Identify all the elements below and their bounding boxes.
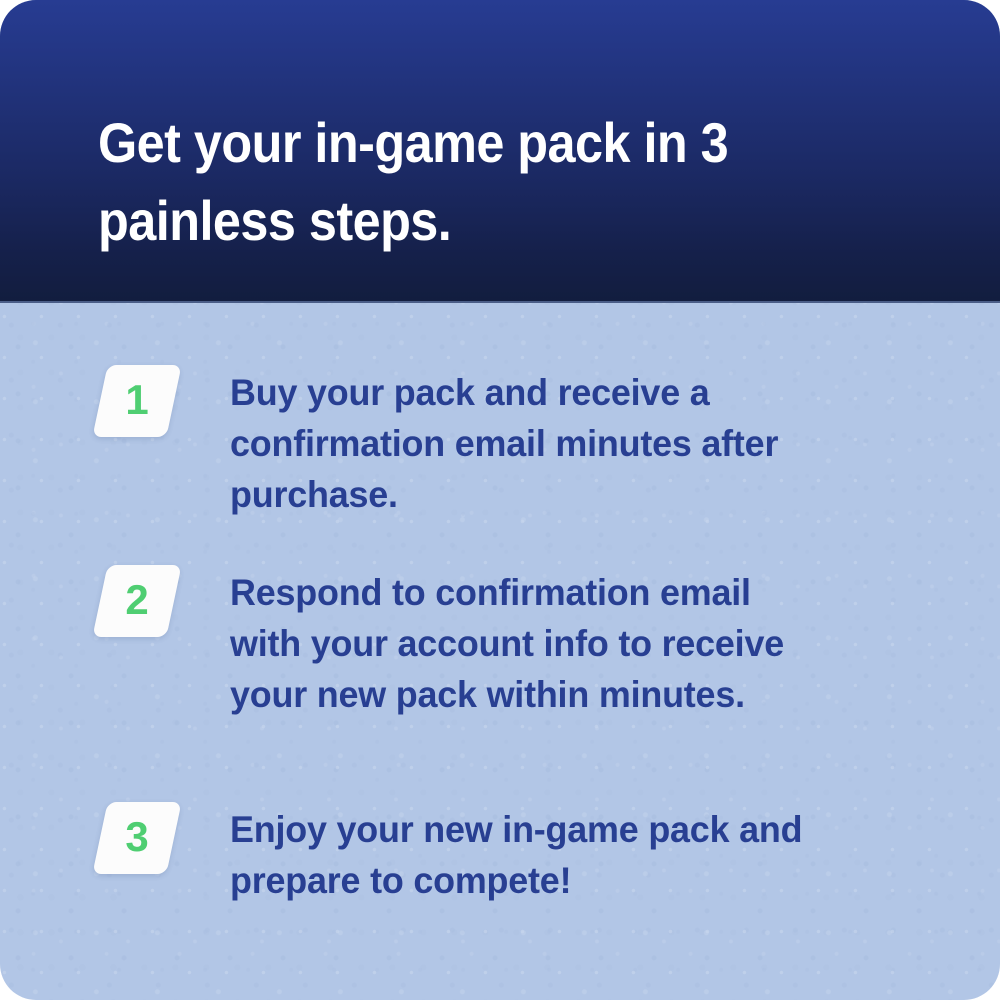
step-item-2: 2 Respond to confirmation email with you… — [0, 565, 1000, 720]
step-number-badge-2: 2 — [92, 565, 181, 637]
step-item-3: 3 Enjoy your new in-game pack and prepar… — [0, 802, 1000, 906]
step-description-1: Buy your pack and receive a confirmation… — [230, 365, 893, 520]
step-number-3: 3 — [100, 802, 174, 874]
step-description-3: Enjoy your new in-game pack and prepare … — [230, 802, 893, 906]
steps-list: 1 Buy your pack and receive a confirmati… — [0, 303, 1000, 1000]
step-item-1: 1 Buy your pack and receive a confirmati… — [0, 365, 1000, 520]
promo-card: Get your in-game pack in 3 painless step… — [0, 0, 1000, 1000]
step-number-badge-3: 3 — [92, 802, 181, 874]
step-number-1: 1 — [100, 365, 174, 437]
step-description-2: Respond to confirmation email with your … — [230, 565, 893, 720]
page-title: Get your in-game pack in 3 painless step… — [98, 104, 809, 260]
card-header: Get your in-game pack in 3 painless step… — [0, 0, 1000, 303]
step-number-badge-1: 1 — [92, 365, 181, 437]
step-number-2: 2 — [100, 565, 174, 637]
